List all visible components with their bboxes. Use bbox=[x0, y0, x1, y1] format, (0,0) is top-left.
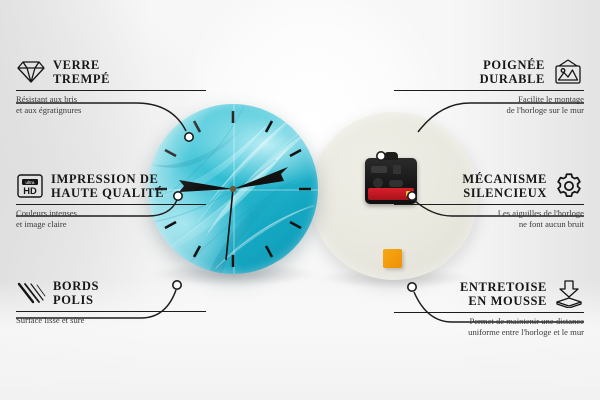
feature-title: IMPRESSION DE HAUTE QUALITÉ bbox=[51, 172, 164, 201]
feature-poignee-durable: POIGNÉE DURABLE Facilite le montage de l… bbox=[394, 58, 584, 117]
feature-title-line2: HAUTE QUALITÉ bbox=[51, 186, 164, 200]
feature-header: ENTRETOISE EN MOUSSE bbox=[394, 280, 584, 309]
feature-title-line2: EN MOUSSE bbox=[460, 294, 547, 308]
mechanism-hanger-tab bbox=[384, 152, 398, 160]
feature-impression-haute-qualite: ultra HD IMPRESSION DE HAUTE QUALITÉ Cou… bbox=[16, 172, 206, 231]
foam-spacer bbox=[383, 249, 402, 268]
feature-title-line2: POLIS bbox=[53, 293, 99, 307]
feature-entretoise-en-mousse: ENTRETOISE EN MOUSSE Permet de maintenir… bbox=[394, 280, 584, 339]
mechanism-detail bbox=[371, 166, 387, 173]
mechanism-detail bbox=[373, 178, 383, 188]
second-hand bbox=[226, 189, 233, 260]
gear-icon bbox=[554, 172, 584, 200]
feature-header: MÉCANISME SILENCIEUX bbox=[394, 172, 584, 201]
feature-header: ultra HD IMPRESSION DE HAUTE QUALITÉ bbox=[16, 172, 206, 201]
feature-rule bbox=[394, 204, 584, 205]
feature-title-line1: BORDS bbox=[53, 279, 99, 293]
feature-caption-line2: et aux égratignures bbox=[16, 105, 206, 116]
feature-caption: Couleurs intenses et image claire bbox=[16, 208, 206, 231]
infographic-canvas: VERRE TREMPÉ Résistant aux bris et aux é… bbox=[0, 0, 600, 400]
hands-center-cap bbox=[230, 186, 236, 192]
feature-title-line2: SILENCIEUX bbox=[462, 186, 547, 200]
feature-title: POIGNÉE DURABLE bbox=[480, 58, 545, 87]
feature-caption: Permet de maintenir une distance uniform… bbox=[394, 316, 584, 339]
feature-rule bbox=[16, 311, 206, 312]
diamond-icon bbox=[16, 59, 46, 85]
feature-caption-line1: Facilite le montage bbox=[394, 94, 584, 105]
feature-title-line2: TREMPÉ bbox=[53, 72, 110, 86]
feature-title: MÉCANISME SILENCIEUX bbox=[462, 172, 547, 201]
picture-hanger-icon bbox=[552, 59, 584, 85]
feature-caption-line1: Résistant aux bris bbox=[16, 94, 206, 105]
feature-caption-line2: de l'horloge sur le mur bbox=[394, 105, 584, 116]
foam-spacer-icon bbox=[554, 280, 584, 308]
feature-caption: Facilite le montage de l'horloge sur le … bbox=[394, 94, 584, 117]
feature-title-line2: DURABLE bbox=[480, 72, 545, 86]
feature-title-line1: VERRE bbox=[53, 58, 110, 72]
feature-caption-line2: et image claire bbox=[16, 219, 206, 230]
feature-rule bbox=[16, 90, 206, 91]
feature-rule bbox=[16, 204, 206, 205]
feature-caption-line1: Surface lisse et sûre bbox=[16, 315, 206, 326]
polished-edges-icon bbox=[16, 281, 46, 305]
feature-title-line1: MÉCANISME bbox=[462, 172, 547, 186]
feature-title: BORDS POLIS bbox=[53, 279, 99, 308]
feature-caption-line2: uniforme entre l'horloge et le mur bbox=[394, 327, 584, 338]
feature-caption-line1: Couleurs intenses bbox=[16, 208, 206, 219]
feature-rule bbox=[394, 312, 584, 313]
feature-title-line1: IMPRESSION DE bbox=[51, 172, 164, 186]
feature-caption-line1: Les aiguilles de l'horloge bbox=[394, 208, 584, 219]
minute-hand bbox=[233, 167, 288, 189]
hd-label: HD bbox=[23, 185, 37, 196]
feature-header: BORDS POLIS bbox=[16, 279, 206, 308]
feature-rule bbox=[394, 90, 584, 91]
feature-caption: Résistant aux bris et aux égratignures bbox=[16, 94, 206, 117]
feature-verre-trempe: VERRE TREMPÉ Résistant aux bris et aux é… bbox=[16, 58, 206, 117]
feature-caption-line2: ne font aucun bruit bbox=[394, 219, 584, 230]
feature-title-line1: POIGNÉE bbox=[480, 58, 545, 72]
feature-title: ENTRETOISE EN MOUSSE bbox=[460, 280, 547, 309]
ultra-hd-icon: ultra HD bbox=[16, 173, 44, 199]
feature-header: POIGNÉE DURABLE bbox=[394, 58, 584, 87]
feature-caption-line1: Permet de maintenir une distance bbox=[394, 316, 584, 327]
feature-title-line1: ENTRETOISE bbox=[460, 280, 547, 294]
feature-title: VERRE TREMPÉ bbox=[53, 58, 110, 87]
feature-header: VERRE TREMPÉ bbox=[16, 58, 206, 87]
feature-bords-polis: BORDS POLIS Surface lisse et sûre bbox=[16, 279, 206, 326]
feature-caption: Surface lisse et sûre bbox=[16, 315, 206, 326]
feature-mecanisme-silencieux: MÉCANISME SILENCIEUX Les aiguilles de l'… bbox=[394, 172, 584, 231]
feature-caption: Les aiguilles de l'horloge ne font aucun… bbox=[394, 208, 584, 231]
